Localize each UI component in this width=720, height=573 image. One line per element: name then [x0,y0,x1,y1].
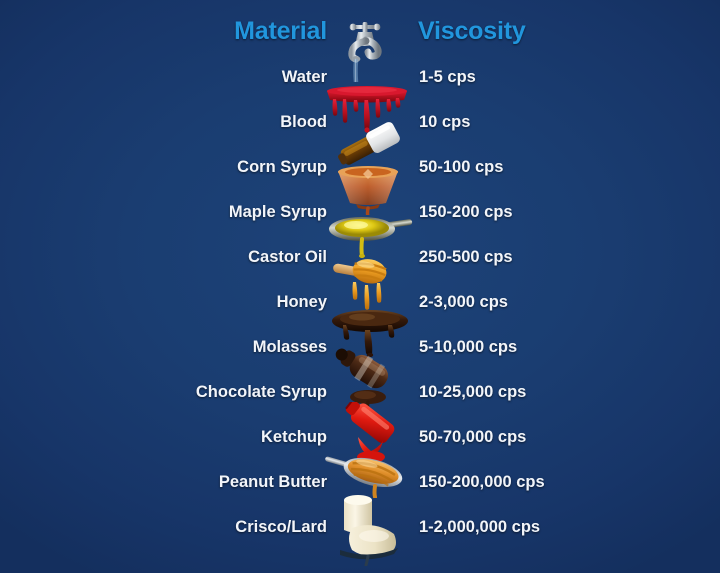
viscosity-value: 10 cps [419,100,545,145]
castor-oil-spoon-icon [326,212,416,258]
viscosity-column: 1-5 cps 10 cps 50-100 cps 150-200 cps 25… [419,55,545,550]
honey-dipper-icon [332,256,410,312]
crisco-lard-icon [330,488,410,566]
material-label: Ketchup [196,415,327,460]
material-label: Chocolate Syrup [196,370,327,415]
material-label: Crisco/Lard [196,505,327,550]
blood-drip-icon [324,84,410,134]
viscosity-value: 5-10,000 cps [419,325,545,370]
viscosity-value: 50-70,000 cps [419,415,545,460]
chocolate-syrup-bottle-icon [327,345,409,409]
viscosity-value: 250-500 cps [419,235,545,280]
material-label: Blood [196,100,327,145]
molasses-pour-icon [326,305,414,357]
material-label: Castor Oil [196,235,327,280]
ketchup-bottle-icon [334,402,410,464]
material-label: Molasses [196,325,327,370]
viscosity-value: 1-2,000,000 cps [419,505,545,550]
corn-syrup-bottle-icon [334,122,406,168]
material-label: Maple Syrup [196,190,327,235]
material-label: Corn Syrup [196,145,327,190]
faucet-icon [336,20,390,82]
peanut-butter-spoon-icon [325,452,417,498]
viscosity-infographic: Material Viscosity Water Blood Corn Syru… [0,0,720,573]
viscosity-value: 10-25,000 cps [419,370,545,415]
maple-syrup-bowl-icon [330,165,406,215]
viscosity-value: 1-5 cps [419,55,545,100]
material-column: Water Blood Corn Syrup Maple Syrup Casto… [196,55,327,550]
header-viscosity: Viscosity [418,17,526,46]
icon-stack [0,0,720,573]
viscosity-value: 150-200 cps [419,190,545,235]
material-label: Honey [196,280,327,325]
viscosity-value: 150-200,000 cps [419,460,545,505]
material-label: Peanut Butter [196,460,327,505]
material-label: Water [196,55,327,100]
viscosity-value: 2-3,000 cps [419,280,545,325]
header-material: Material [234,17,327,46]
viscosity-value: 50-100 cps [419,145,545,190]
